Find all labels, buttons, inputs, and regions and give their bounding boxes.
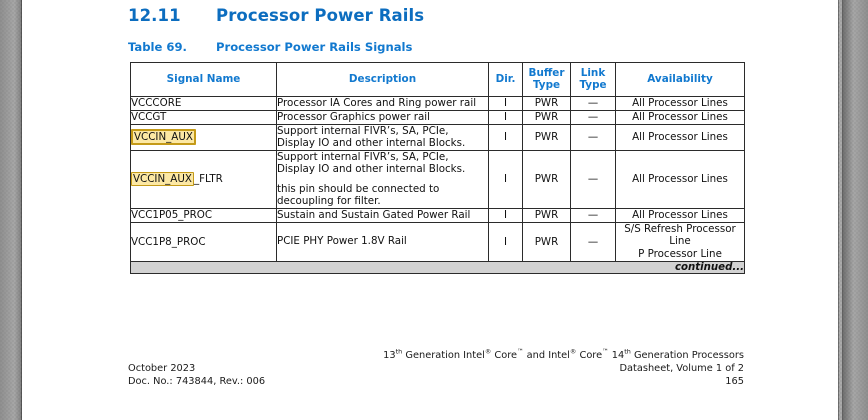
cell-buffer-type: PWR [523,97,571,111]
cell-dir: I [489,150,523,208]
cell-dir: I [489,97,523,111]
table-body: VCCCOREProcessor IA Cores and Ring power… [131,97,745,274]
cell-buffer-type: PWR [523,222,571,261]
footer-datasheet-line: Datasheet, Volume 1 of 2 [619,362,744,375]
cell-description: Processor IA Cores and Ring power rail [277,97,489,111]
cell-signal-name: VCC1P05_PROC [131,208,277,222]
cell-link-type: — [571,208,616,222]
cell-availability: All Processor Lines [616,150,745,208]
table-caption-label: Table 69. [128,40,216,54]
table-caption: Table 69. Processor Power Rails Signals [128,40,412,54]
section-heading: 12.11 Processor Power Rails [128,6,424,25]
pdf-viewer: 12.11 Processor Power Rails Table 69. Pr… [0,0,868,420]
cell-link-type: — [571,150,616,208]
table-row: VCCGTProcessor Graphics power railIPWR—A… [131,110,745,124]
search-highlight: VCCIN_AUX [131,129,196,145]
availability-line: All Processor Lines [616,111,744,124]
cell-availability: All Processor Lines [616,110,745,124]
link-type-line1: Link [581,67,606,79]
cell-signal-name: VCC1P8_PROC [131,222,277,261]
table-row: VCC1P8_PROCPCIE PHY Power 1.8V RailIPWR—… [131,222,745,261]
availability-line: All Processor Lines [616,97,744,110]
column-header-buffer-type: Buffer Type [523,63,571,97]
availability-line: All Processor Lines [616,173,744,186]
cell-availability: All Processor Lines [616,208,745,222]
column-header-dir: Dir. [489,63,523,97]
table-row: VCCIN_AUX_FLTRSupport internal FIVR’s, S… [131,150,745,208]
cell-availability: S/S Refresh Processor LineP Processor Li… [616,222,745,261]
cell-link-type: — [571,124,616,150]
column-header-signal-name: Signal Name [131,63,277,97]
column-header-description: Description [277,63,489,97]
cell-availability: All Processor Lines [616,97,745,111]
search-highlight: VCCIN_AUX [131,172,194,186]
description-paragraph: PCIE PHY Power 1.8V Rail [277,235,488,248]
footer-page-number: 165 [725,375,744,388]
cell-link-type: — [571,110,616,124]
cell-signal-name: VCCGT [131,110,277,124]
footer-date: October 2023 [128,362,195,375]
footer-product-title: 13th Generation Intel® Core™ and Intel® … [128,349,744,362]
buffer-type-line2: Type [533,79,560,91]
cell-dir: I [489,110,523,124]
cell-buffer-type: PWR [523,208,571,222]
power-rails-table: Signal Name Description Dir. Buffer Type… [130,62,745,274]
cell-buffer-type: PWR [523,124,571,150]
section-title: Processor Power Rails [216,6,424,25]
availability-line: All Processor Lines [616,209,744,222]
table-continued-row: continued... [131,261,745,273]
table-caption-title: Processor Power Rails Signals [216,40,412,54]
availability-line: All Processor Lines [616,131,744,144]
description-paragraph: this pin should be connected to decoupli… [277,183,488,208]
link-type-line2: Type [579,79,606,91]
description-paragraph: Support internal FIVR’s, SA, PCIe, Displ… [277,151,488,176]
page-footer: 13th Generation Intel® Core™ and Intel® … [128,349,744,389]
column-header-availability: Availability [616,63,745,97]
signal-name-suffix: _FLTR [194,173,223,185]
description-paragraph: Processor IA Cores and Ring power rail [277,97,488,110]
table-header-row: Signal Name Description Dir. Buffer Type… [131,63,745,97]
cell-description: Processor Graphics power rail [277,110,489,124]
column-header-link-type: Link Type [571,63,616,97]
cell-dir: I [489,222,523,261]
cell-availability: All Processor Lines [616,124,745,150]
buffer-type-line1: Buffer [529,67,565,79]
cell-signal-name: VCCIN_AUX_FLTR [131,150,277,208]
cell-signal-name: VCCIN_AUX [131,124,277,150]
cell-description: PCIE PHY Power 1.8V Rail [277,222,489,261]
availability-line: P Processor Line [616,248,744,261]
cell-link-type: — [571,222,616,261]
table-row: VCCCOREProcessor IA Cores and Ring power… [131,97,745,111]
cell-description: Support internal FIVR’s, SA, PCIe, Displ… [277,150,489,208]
cell-description: Sustain and Sustain Gated Power Rail [277,208,489,222]
continued-label: continued... [131,261,745,273]
cell-signal-name: VCCCORE [131,97,277,111]
cell-description: Support internal FIVR’s, SA, PCIe, Displ… [277,124,489,150]
cell-link-type: — [571,97,616,111]
description-paragraph: Processor Graphics power rail [277,111,488,124]
cell-buffer-type: PWR [523,110,571,124]
cell-buffer-type: PWR [523,150,571,208]
cell-dir: I [489,124,523,150]
availability-line: S/S Refresh Processor Line [616,223,744,249]
section-number: 12.11 [128,6,216,25]
description-paragraph: Support internal FIVR’s, SA, PCIe, Displ… [277,125,488,150]
table-header: Signal Name Description Dir. Buffer Type… [131,63,745,97]
table-row: VCC1P05_PROCSustain and Sustain Gated Po… [131,208,745,222]
cell-dir: I [489,208,523,222]
description-paragraph: Sustain and Sustain Gated Power Rail [277,209,488,222]
footer-doc-number: Doc. No.: 743844, Rev.: 006 [128,375,265,388]
table-row: VCCIN_AUXSupport internal FIVR’s, SA, PC… [131,124,745,150]
document-page: 12.11 Processor Power Rails Table 69. Pr… [22,0,838,420]
